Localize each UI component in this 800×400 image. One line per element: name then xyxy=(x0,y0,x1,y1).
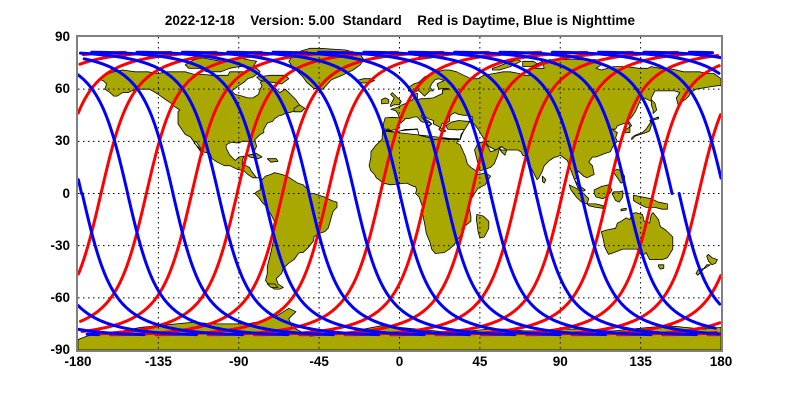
x-tick-label: 90 xyxy=(530,355,590,369)
y-tick-label: 0 xyxy=(24,187,70,201)
page-title: 2022-12-18 Version: 5.00 Standard Red is… xyxy=(0,13,800,28)
x-tick-label: 135 xyxy=(611,355,671,369)
ground-track-map: 2022-12-18 Version: 5.00 Standard Red is… xyxy=(0,0,800,400)
x-tick-label: -90 xyxy=(209,355,269,369)
x-tick-label: -135 xyxy=(128,355,188,369)
y-tick-label: 60 xyxy=(24,82,70,96)
y-tick-label: 30 xyxy=(24,134,70,148)
y-tick-label: 90 xyxy=(24,30,70,44)
landmass xyxy=(621,208,626,211)
x-tick-label: 0 xyxy=(370,355,430,369)
y-tick-label: -30 xyxy=(24,239,70,253)
x-tick-label: -45 xyxy=(289,355,349,369)
x-tick-label: 45 xyxy=(450,355,510,369)
plot-frame xyxy=(76,35,723,352)
x-tick-label: -180 xyxy=(48,355,108,369)
x-tick-label: 180 xyxy=(691,355,751,369)
plot-area xyxy=(78,37,721,350)
landmass xyxy=(382,98,389,104)
y-tick-label: -60 xyxy=(24,291,70,305)
